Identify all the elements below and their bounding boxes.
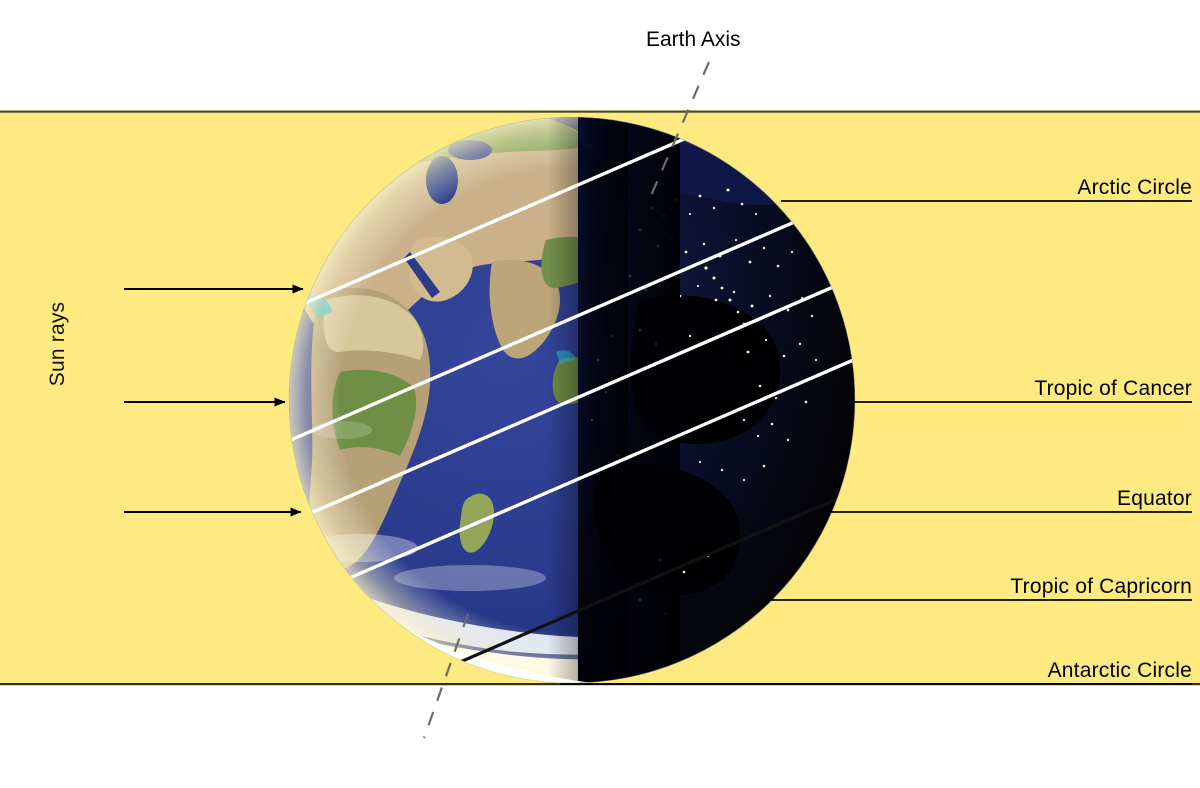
- earth-axis-label: Earth Axis: [646, 28, 741, 52]
- arctic-circle-label: Arctic Circle: [0, 176, 1192, 200]
- antarctic-circle-label: Antarctic Circle: [0, 659, 1192, 683]
- diagram-canvas: Sun rays Earth Axis Arctic Circle Tropic…: [0, 0, 1200, 788]
- tropic-of-capricorn-label: Tropic of Capricorn: [0, 575, 1192, 599]
- equator-label: Equator: [0, 487, 1192, 511]
- tropic-of-cancer-label: Tropic of Cancer: [0, 377, 1192, 401]
